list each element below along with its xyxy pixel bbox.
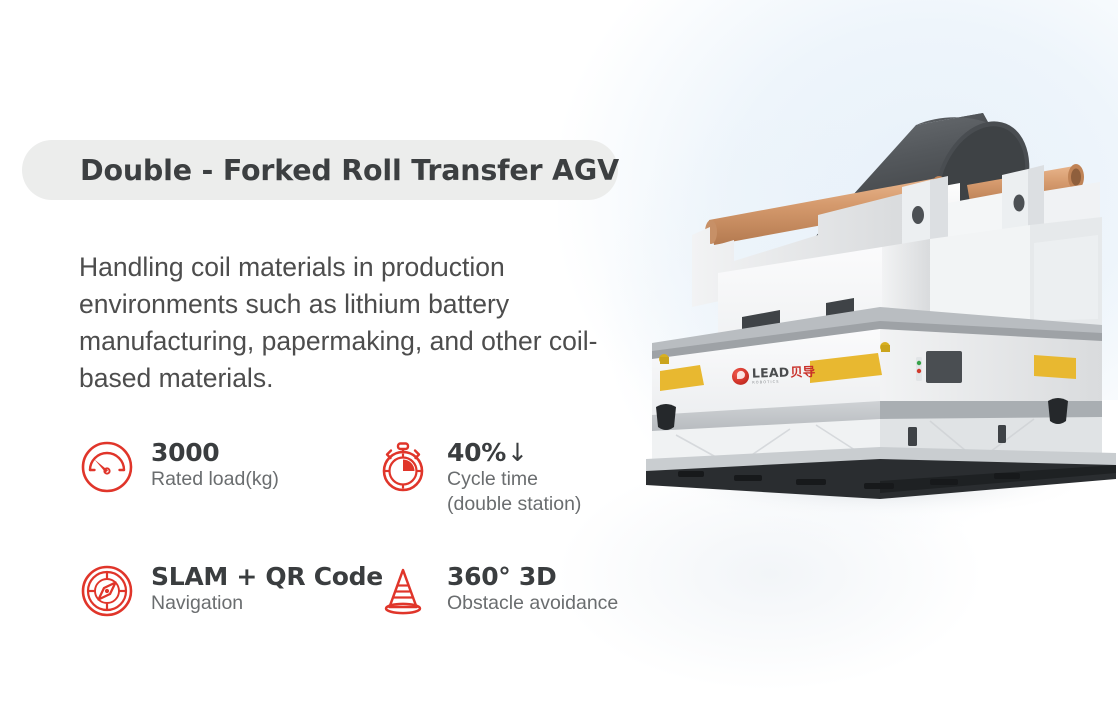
brand-logo-text: LEAD 贝导 ROBOTICS xyxy=(752,366,816,385)
gauge-icon xyxy=(79,439,135,495)
brand-logo: LEAD 贝导 ROBOTICS xyxy=(732,366,816,385)
lead-logo-mark-icon xyxy=(732,368,749,385)
spec-value: 360° 3D xyxy=(447,563,618,591)
spec-text-navigation: SLAM + QR Code Navigation xyxy=(151,561,383,616)
spec-value-number: 3000 xyxy=(151,439,219,467)
spec-text-rated-load: 3000 Rated load(kg) xyxy=(151,437,279,492)
spec-text-obstacle-avoidance: 360° 3D Obstacle avoidance xyxy=(447,561,618,616)
spec-label: Obstacle avoidance xyxy=(447,592,618,614)
spec-item-rated-load: 3000 Rated load(kg) xyxy=(79,437,375,561)
traffic-cone-icon xyxy=(375,563,431,619)
spec-value-number: 360° 3D xyxy=(447,563,556,591)
spec-label-secondary: (double station) xyxy=(447,493,581,515)
spec-item-obstacle-avoidance: 360° 3D Obstacle avoidance xyxy=(375,561,671,619)
brand-logo-row: LEAD 贝导 xyxy=(752,366,816,380)
slide-canvas: Double - Forked Roll Transfer AGV Handli… xyxy=(0,0,1118,719)
brand-wordmark-cn: 贝导 xyxy=(790,366,815,379)
spec-value: SLAM + QR Code xyxy=(151,563,383,591)
spec-item-navigation: SLAM + QR Code Navigation xyxy=(79,561,375,619)
spec-item-cycle-time: 40% ↓ Cycle time (double station) xyxy=(375,437,671,561)
product-image-agv: LEAD 贝导 ROBOTICS xyxy=(630,75,1118,530)
spec-value-number: SLAM + QR Code xyxy=(151,563,383,591)
page-title: Double - Forked Roll Transfer AGV xyxy=(22,154,619,187)
spec-value: 3000 xyxy=(151,439,279,467)
bumper-right xyxy=(1034,355,1076,379)
spec-grid: 3000 Rated load(kg) xyxy=(79,437,679,619)
title-pill: Double - Forked Roll Transfer AGV xyxy=(22,140,618,200)
description-text: Handling coil materials in production en… xyxy=(79,249,649,397)
spec-value-number: 40% xyxy=(447,439,506,467)
brand-wordmark: LEAD xyxy=(752,367,790,380)
spec-label: Cycle time xyxy=(447,468,538,490)
control-panel xyxy=(926,351,962,383)
spec-label: Rated load(kg) xyxy=(151,468,279,490)
compass-icon xyxy=(79,563,135,619)
spec-label: Navigation xyxy=(151,592,243,614)
decrease-arrow-icon: ↓ xyxy=(507,439,528,467)
stopwatch-icon xyxy=(375,439,431,495)
